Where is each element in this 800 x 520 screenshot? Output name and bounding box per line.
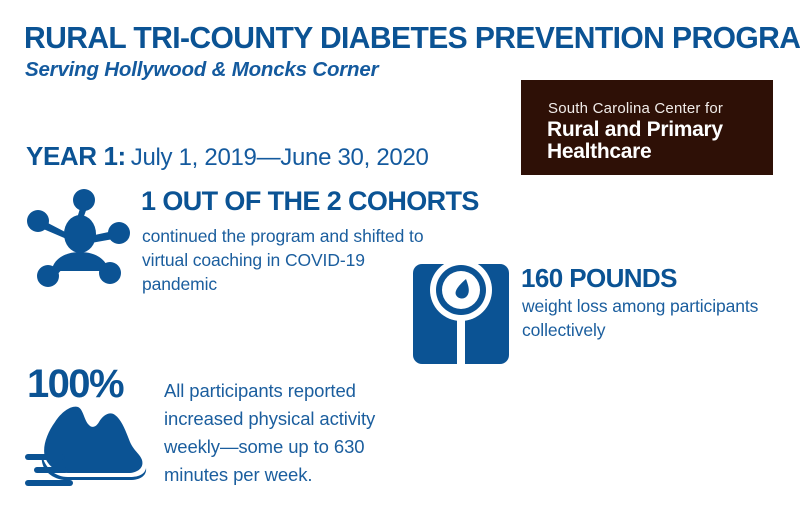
organization-logo: South Carolina Center for Rural and Prim…: [521, 80, 773, 175]
pounds-stat-headline: 160 POUNDS: [521, 263, 677, 294]
logo-line-tertiary: Healthcare: [547, 140, 651, 164]
activity-stat-body: All participants reported increased phys…: [164, 377, 426, 489]
logo-line-primary: South Carolina Center for: [548, 100, 723, 117]
cohorts-stat-body: continued the program and shifted to vir…: [142, 224, 442, 296]
year-label: YEAR 1:: [26, 141, 126, 171]
cohorts-stat-headline: 1 OUT OF THE 2 COHORTS: [141, 186, 479, 217]
year-date-range: July 1, 2019—June 30, 2020: [131, 144, 429, 171]
network-people-icon: [24, 188, 132, 292]
pounds-stat-body: weight loss among participants collectiv…: [522, 294, 792, 342]
page-title: RURAL TRI-COUNTY DIABETES PREVENTION PRO…: [24, 22, 782, 54]
year-period: YEAR 1:July 1, 2019—June 30, 2020: [26, 141, 429, 172]
page-subtitle: Serving Hollywood & Moncks Corner: [25, 58, 378, 82]
logo-line-secondary: Rural and Primary: [547, 118, 723, 142]
running-shoe-icon: [22, 398, 148, 498]
weight-scale-icon: [412, 261, 510, 364]
